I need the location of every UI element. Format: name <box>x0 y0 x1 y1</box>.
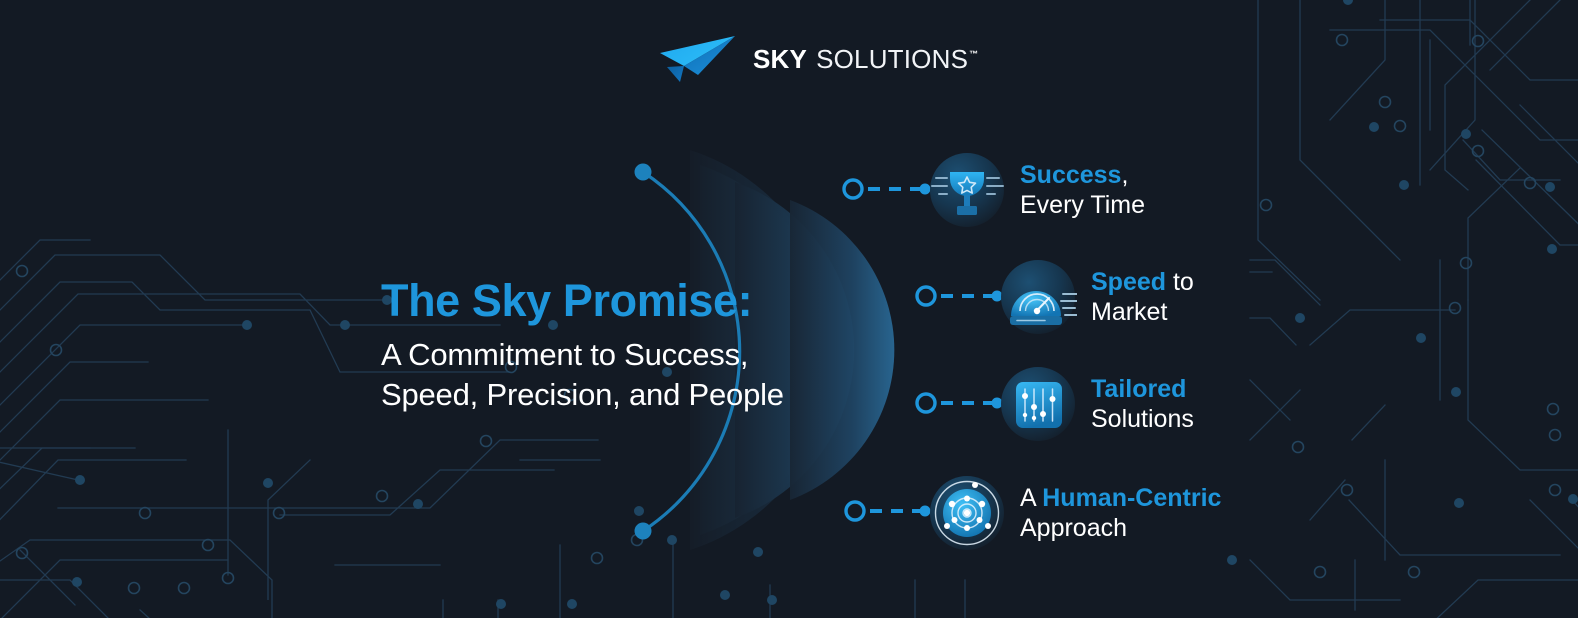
feature-prefix: A <box>1020 484 1042 512</box>
trophy-icon <box>928 151 1006 229</box>
feature-line2: Solutions <box>1091 404 1194 435</box>
connector-speed <box>917 287 1003 305</box>
page-title: The Sky Promise: <box>381 276 901 326</box>
brand-wordmark: SKY SOLUTIONS ™ <box>753 44 978 75</box>
headline-block: The Sky Promise: A Commitment to Success… <box>381 276 901 415</box>
brand-name-bold: SKY <box>753 44 807 75</box>
feature-plain: to <box>1166 268 1194 296</box>
feature-item-speed[interactable]: Speed to Market <box>999 258 1194 336</box>
trademark-symbol: ™ <box>969 49 978 59</box>
feature-item-human-centric[interactable]: A Human-Centric Approach <box>928 474 1221 552</box>
feature-label-success: Success, Every Time <box>1020 160 1145 221</box>
feature-item-tailored[interactable]: Tailored Solutions <box>999 365 1194 443</box>
connector-tailored <box>917 394 1003 412</box>
infographic-banner: SKY SOLUTIONS ™ The Sky Promise: A Commi… <box>0 0 1578 618</box>
feature-label-speed: Speed to Market <box>1091 267 1194 328</box>
speedometer-icon <box>999 258 1077 336</box>
feature-highlight: Speed <box>1091 268 1166 296</box>
feature-label-human-centric: A Human-Centric Approach <box>1020 483 1221 544</box>
feature-line2: Every Time <box>1020 190 1145 221</box>
connector-success <box>844 180 931 198</box>
feature-line2: Market <box>1091 297 1194 328</box>
feature-line2: Approach <box>1020 513 1221 544</box>
paper-plane-icon <box>657 33 739 85</box>
feature-label-tailored: Tailored Solutions <box>1091 374 1194 435</box>
feature-highlight: Human-Centric <box>1042 484 1221 512</box>
page-subtitle: A Commitment to Success, Speed, Precisio… <box>381 335 901 414</box>
feature-highlight: Tailored <box>1091 375 1186 403</box>
sliders-icon <box>999 365 1077 443</box>
connector-human-centric <box>846 502 931 520</box>
feature-highlight: Success <box>1020 161 1121 189</box>
feature-plain: , <box>1121 161 1128 189</box>
brand-logo[interactable]: SKY SOLUTIONS ™ <box>657 31 978 87</box>
feature-item-success[interactable]: Success, Every Time <box>928 151 1145 229</box>
network-orbit-icon <box>928 474 1006 552</box>
brand-name-light: SOLUTIONS <box>816 44 968 75</box>
